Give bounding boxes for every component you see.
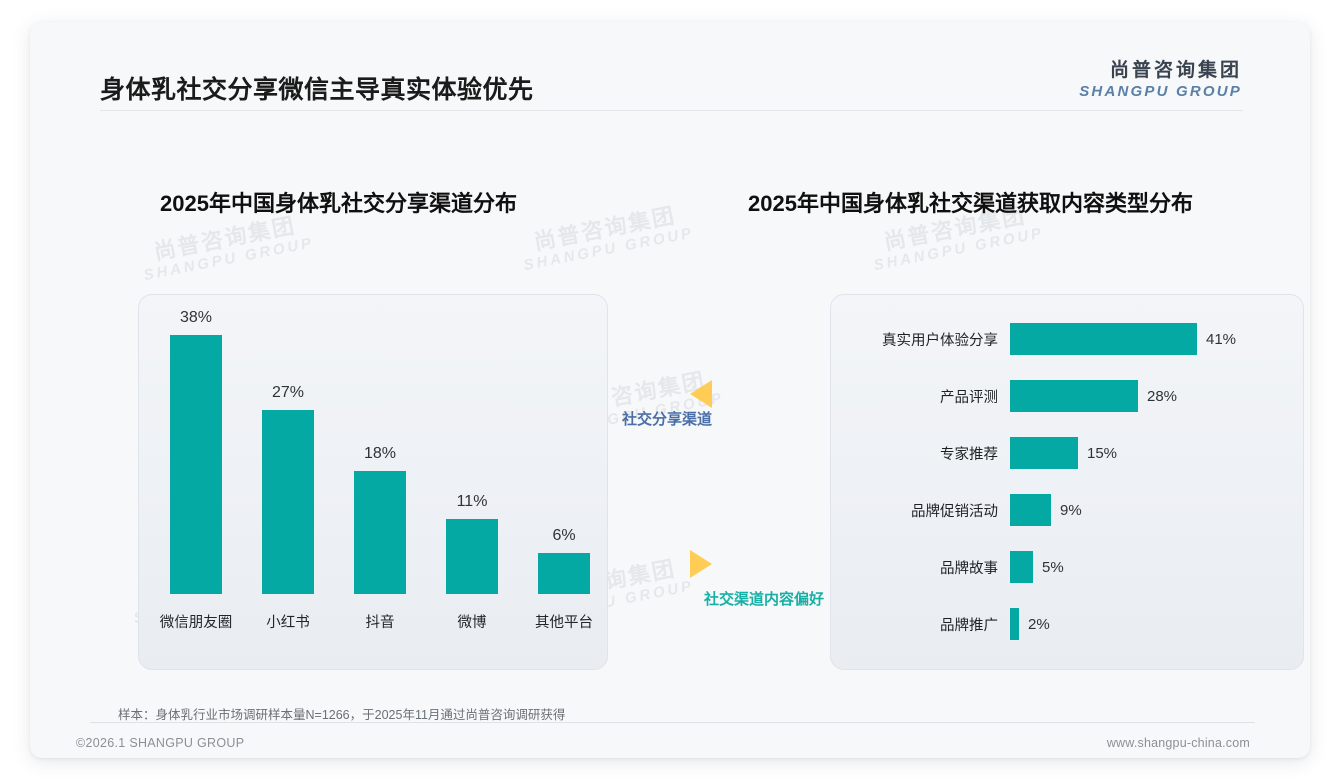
slide-footer: ©2026.1 SHANGPU GROUP www.shangpu-china.… — [30, 722, 1310, 758]
column-item[interactable]: 27% 小红书 — [242, 294, 334, 670]
column-value: 38% — [150, 309, 242, 327]
column-value: 11% — [426, 493, 518, 511]
column-bar[interactable] — [170, 335, 222, 594]
bar-row[interactable]: 品牌促销活动 9% — [830, 494, 1304, 526]
bar-track: 2% — [1010, 608, 1304, 640]
copyright-text: ©2026.1 SHANGPU GROUP — [76, 736, 244, 750]
annotation-label: 社交渠道内容偏好 — [704, 588, 824, 609]
column-item[interactable]: 11% 微博 — [426, 294, 518, 670]
bar-track: 9% — [1010, 494, 1304, 526]
header-divider — [100, 110, 1243, 111]
watermark: 尚普咨询集团 SHANGPU GROUP — [518, 201, 696, 275]
page-title: 身体乳社交分享微信主导真实体验优先 — [100, 70, 534, 106]
bar-row[interactable]: 品牌故事 5% — [830, 551, 1304, 583]
bar-row[interactable]: 品牌推广 2% — [830, 608, 1304, 640]
brand-logo-cn: 尚普咨询集团 — [1079, 60, 1242, 82]
column-bar-wrap: 27% — [242, 308, 334, 594]
bar-label: 专家推荐 — [830, 443, 1010, 464]
bar-label: 产品评测 — [830, 386, 1010, 407]
bar-fill[interactable] — [1010, 437, 1078, 469]
chart-title-left: 2025年中国身体乳社交分享渠道分布 — [160, 186, 517, 218]
bar-label: 品牌推广 — [830, 614, 1010, 635]
bar-track: 15% — [1010, 437, 1304, 469]
bar-value: 9% — [1060, 502, 1082, 519]
column-label: 其他平台 — [508, 611, 620, 632]
column-bar[interactable] — [446, 519, 498, 594]
bar-fill[interactable] — [1010, 380, 1138, 412]
column-bar-wrap: 11% — [426, 308, 518, 594]
brand-logo: 尚普咨询集团 SHANGPU GROUP — [1079, 60, 1242, 100]
sample-footnote: 样本：身体乳行业市场调研样本量N=1266，于2025年11月通过尚普咨询调研获… — [118, 704, 565, 723]
bar-row[interactable]: 真实用户体验分享 41% — [830, 323, 1304, 355]
column-bar[interactable] — [262, 410, 314, 594]
column-bar-wrap: 6% — [518, 308, 610, 594]
column-value: 18% — [334, 445, 426, 463]
watermark-cn: 尚普咨询集团 — [138, 211, 313, 268]
chart-title-right: 2025年中国身体乳社交渠道获取内容类型分布 — [748, 186, 1193, 218]
brand-logo-en: SHANGPU GROUP — [1079, 83, 1242, 100]
watermark-cn: 尚普咨询集团 — [518, 201, 693, 258]
annotation-label: 社交分享渠道 — [622, 408, 712, 429]
column-bar-wrap: 18% — [334, 308, 426, 594]
column-chart: 38% 微信朋友圈 27% 小红书 18% 抖音 11% 微博 — [138, 294, 608, 670]
watermark-en: SHANGPU GROUP — [872, 225, 1045, 275]
column-item[interactable]: 38% 微信朋友圈 — [150, 294, 242, 670]
column-item[interactable]: 6% 其他平台 — [518, 294, 610, 670]
column-bar-wrap: 38% — [150, 308, 242, 594]
bar-fill[interactable] — [1010, 551, 1033, 583]
bar-label: 品牌故事 — [830, 557, 1010, 578]
watermark-en: SHANGPU GROUP — [522, 225, 695, 275]
bar-value: 28% — [1147, 388, 1177, 405]
watermark-en: SHANGPU GROUP — [142, 235, 315, 285]
column-value: 27% — [242, 384, 334, 402]
bar-label: 品牌促销活动 — [830, 500, 1010, 521]
bar-value: 41% — [1206, 331, 1236, 348]
bar-row[interactable]: 产品评测 28% — [830, 380, 1304, 412]
bar-fill[interactable] — [1010, 323, 1197, 355]
slide-header: 身体乳社交分享微信主导真实体验优先 尚普咨询集团 SHANGPU GROUP — [30, 22, 1310, 114]
watermark: 尚普咨询集团 SHANGPU GROUP — [138, 211, 316, 285]
bar-value: 15% — [1087, 445, 1117, 462]
bar-value: 2% — [1028, 616, 1050, 633]
column-bar[interactable] — [538, 553, 590, 594]
bar-value: 5% — [1042, 559, 1064, 576]
horizontal-bar-chart: 真实用户体验分享 41% 产品评测 28% 专家推荐 15% 品牌促销活动 — [830, 294, 1304, 670]
bar-track: 41% — [1010, 323, 1304, 355]
column-item[interactable]: 18% 抖音 — [334, 294, 426, 670]
slide-canvas: 尚普咨询集团 SHANGPU GROUP 尚普咨询集团 SHANGPU GROU… — [30, 22, 1310, 758]
bar-track: 5% — [1010, 551, 1304, 583]
bar-fill[interactable] — [1010, 608, 1019, 640]
triangle-right-icon — [690, 550, 712, 578]
bar-row[interactable]: 专家推荐 15% — [830, 437, 1304, 469]
column-value: 6% — [518, 527, 610, 545]
bar-label: 真实用户体验分享 — [830, 329, 1010, 350]
bar-track: 28% — [1010, 380, 1304, 412]
bar-fill[interactable] — [1010, 494, 1051, 526]
column-bar[interactable] — [354, 471, 406, 594]
website-link[interactable]: www.shangpu-china.com — [1107, 736, 1250, 750]
triangle-left-icon — [690, 380, 712, 408]
